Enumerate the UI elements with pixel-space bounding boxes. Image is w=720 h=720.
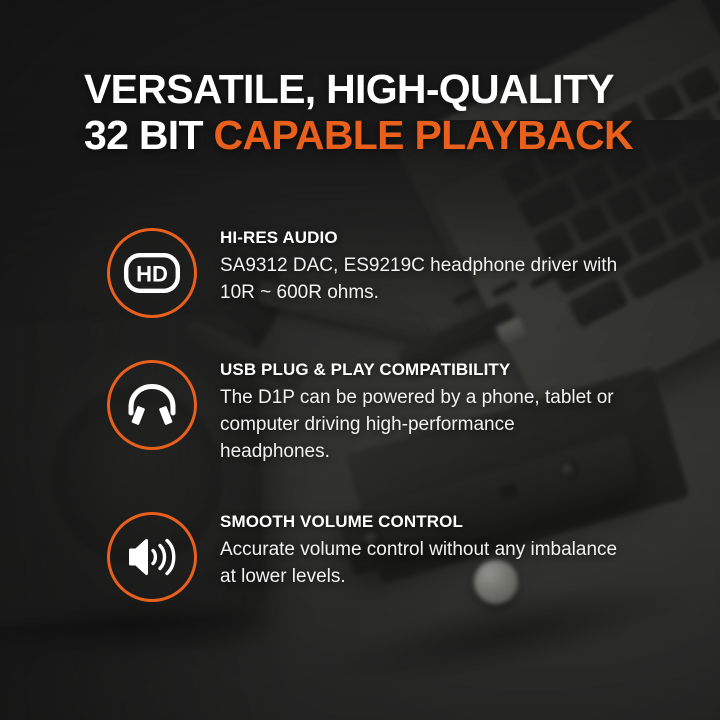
feature-text: SMOOTH VOLUME CONTROL Accurate volume co… xyxy=(220,506,620,590)
page-title: VERSATILE, HIGH-QUALITY 32 BIT CAPABLE P… xyxy=(84,66,684,158)
feature-item-smooth-volume-control: SMOOTH VOLUME CONTROL Accurate volume co… xyxy=(0,506,720,616)
headline-line-2-white: 32 BIT xyxy=(84,112,214,158)
headphones-icon xyxy=(107,360,197,450)
headline-line-2-accent: CAPABLE PLAYBACK xyxy=(214,112,633,158)
product-feature-poster: VERSATILE, HIGH-QUALITY 32 BIT CAPABLE P… xyxy=(0,0,720,720)
feature-title: HI-RES AUDIO xyxy=(220,228,620,248)
feature-description: The D1P can be powered by a phone, table… xyxy=(220,384,620,465)
feature-description: Accurate volume control without any imba… xyxy=(220,536,620,590)
speaker-volume-icon xyxy=(107,512,197,602)
hd-badge-icon: HD xyxy=(107,228,197,318)
feature-item-hi-res-audio: HD HI-RES AUDIO SA9312 DAC, ES9219C head… xyxy=(0,222,720,332)
feature-text: USB PLUG & PLAY COMPATIBILITY The D1P ca… xyxy=(220,354,620,465)
svg-text:HD: HD xyxy=(136,262,168,287)
headline-line-2: 32 BIT CAPABLE PLAYBACK xyxy=(84,112,684,158)
feature-title: SMOOTH VOLUME CONTROL xyxy=(220,512,620,532)
feature-item-usb-plug-and-play: USB PLUG & PLAY COMPATIBILITY The D1P ca… xyxy=(0,354,720,484)
headline-line-1: VERSATILE, HIGH-QUALITY xyxy=(84,66,614,112)
feature-list: HD HI-RES AUDIO SA9312 DAC, ES9219C head… xyxy=(0,222,720,638)
feature-description: SA9312 DAC, ES9219C headphone driver wit… xyxy=(220,252,620,306)
poster-content: VERSATILE, HIGH-QUALITY 32 BIT CAPABLE P… xyxy=(0,0,720,720)
feature-title: USB PLUG & PLAY COMPATIBILITY xyxy=(220,360,620,380)
feature-text: HI-RES AUDIO SA9312 DAC, ES9219C headpho… xyxy=(220,222,620,306)
